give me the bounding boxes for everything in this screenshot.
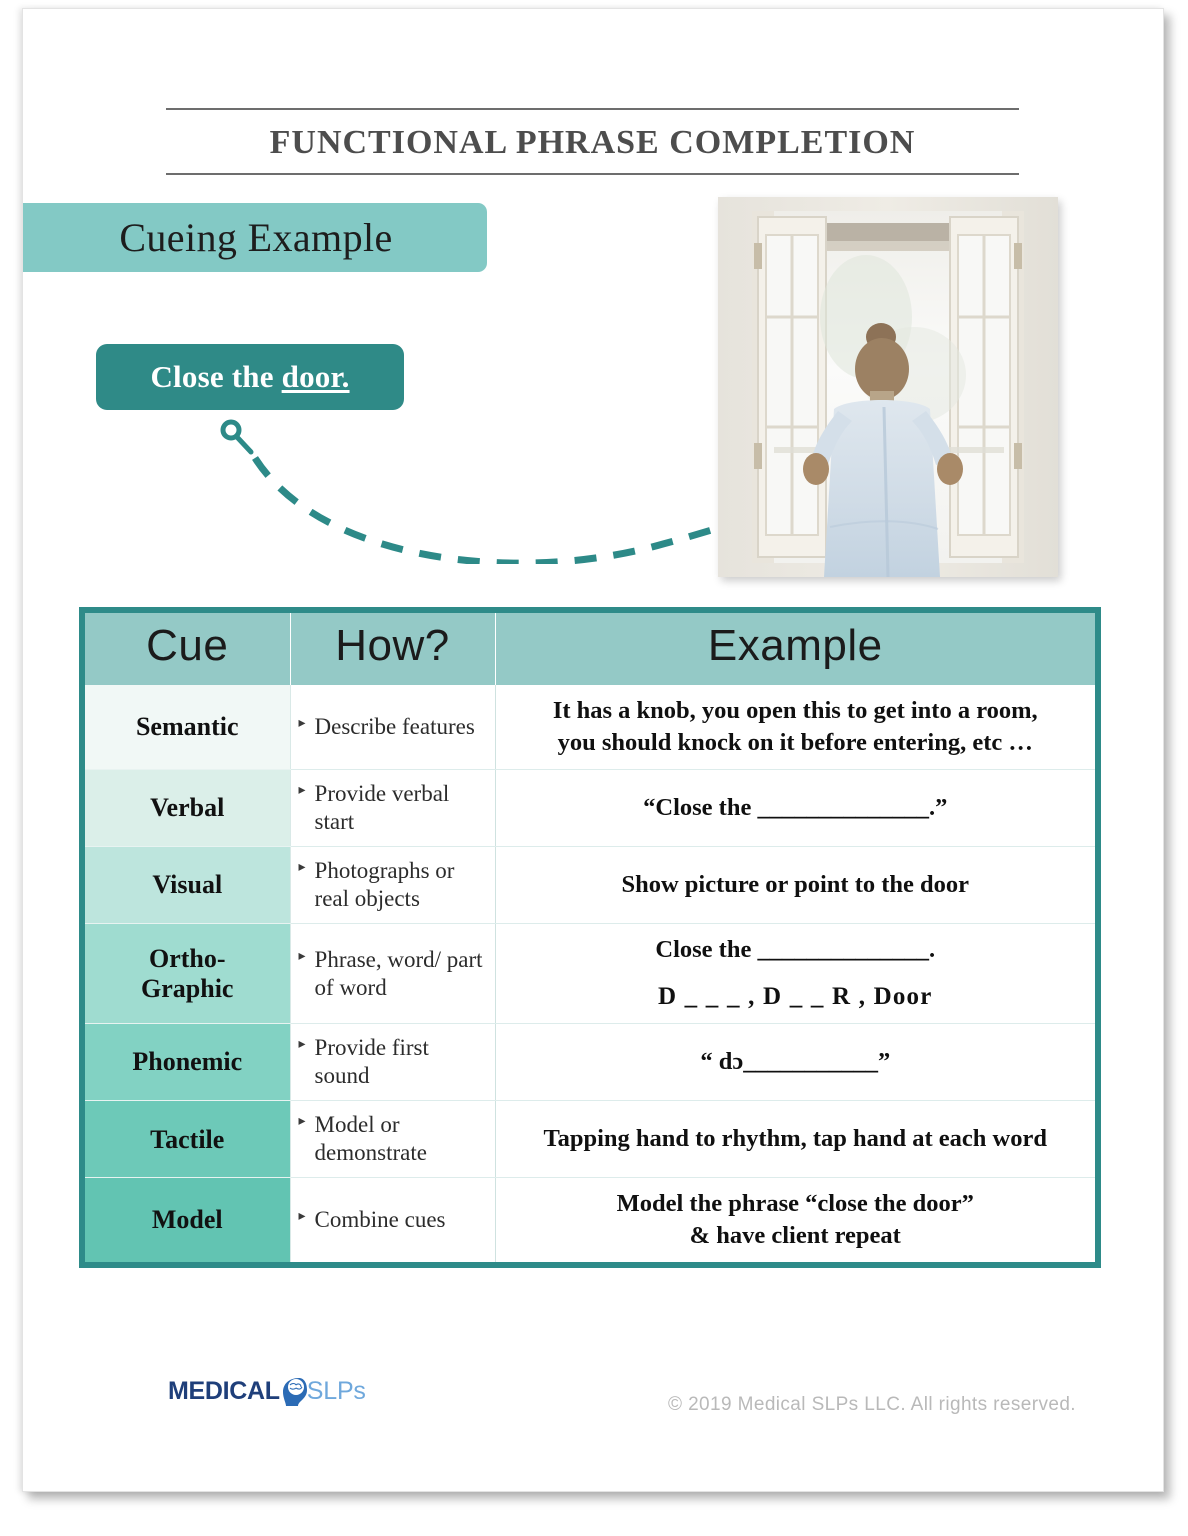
cue-example-line-1: “Close the ______________.” (510, 792, 1082, 824)
column-header-how: How? (290, 613, 495, 685)
page-title: FUNCTIONAL PHRASE COMPLETION (166, 110, 1019, 173)
cue-name-cell: Phonemic (85, 1024, 290, 1101)
bullet-icon: ▸ (299, 946, 306, 968)
table-row: Phonemic▸Provide first sound“ dɔ________… (85, 1024, 1095, 1101)
cue-example-cell: Tapping hand to rhythm, tap hand at each… (495, 1101, 1095, 1178)
cue-how-cell: ▸Model or demonstrate (290, 1101, 495, 1178)
cue-how-cell: ▸Describe features (290, 685, 495, 769)
cue-example-line-1: Show picture or point to the door (510, 869, 1082, 901)
bullet-icon: ▸ (299, 713, 306, 735)
cue-name-cell: Verbal (85, 769, 290, 846)
door-photo-illustration (718, 197, 1058, 577)
target-phrase-chip: Close the door. (96, 344, 404, 410)
cue-name-cell: Ortho-Graphic (85, 923, 290, 1023)
cue-example-cell: “Close the ______________.” (495, 769, 1095, 846)
table-row: Ortho-Graphic▸Phrase, word/ part of word… (85, 923, 1095, 1023)
cue-example-cell: It has a knob, you open this to get into… (495, 685, 1095, 769)
cue-how-text: Phrase, word/ part of word (315, 946, 487, 1002)
logo-word-slps: SLPs (307, 1379, 366, 1404)
cue-how-cell: ▸Combine cues (290, 1178, 495, 1262)
bullet-icon: ▸ (299, 857, 306, 879)
cue-how-cell: ▸Photographs or real objects (290, 846, 495, 923)
table-row: Tactile▸Model or demonstrateTapping hand… (85, 1101, 1095, 1178)
cue-how-cell: ▸Phrase, word/ part of word (290, 923, 495, 1023)
cue-how-text: Model or demonstrate (315, 1111, 487, 1167)
cue-how-text: Combine cues (315, 1206, 446, 1234)
table-row: Visual▸Photographs or real objectsShow p… (85, 846, 1095, 923)
cue-example-line-2: you should knock on it before entering, … (510, 727, 1082, 759)
brain-head-icon (277, 1374, 311, 1408)
cue-how-cell: ▸Provide first sound (290, 1024, 495, 1101)
cue-name-cell: Semantic (85, 685, 290, 769)
table-row: Verbal▸Provide verbal start“Close the __… (85, 769, 1095, 846)
title-block: FUNCTIONAL PHRASE COMPLETION (166, 108, 1019, 175)
column-header-cue: Cue (85, 613, 290, 685)
cue-name-cell: Visual (85, 846, 290, 923)
cue-example-line-2: D _ _ _ , D _ _ R , Door (510, 981, 1082, 1014)
column-header-example: Example (495, 613, 1095, 685)
cue-name-cell: Model (85, 1178, 290, 1262)
table-header-row: Cue How? Example (85, 613, 1095, 685)
target-phrase-word: door. (282, 359, 350, 394)
target-phrase-text: Close the door. (150, 359, 349, 395)
cue-example-line-1: Model the phrase “close the door” (510, 1188, 1082, 1220)
worksheet-page: FUNCTIONAL PHRASE COMPLETION Cueing Exam… (22, 8, 1164, 1492)
cue-example-cell: Show picture or point to the door (495, 846, 1095, 923)
medical-slps-logo: MEDICAL SLPs (168, 1371, 366, 1411)
cue-how-text: Describe features (315, 713, 475, 741)
cue-how-text: Photographs or real objects (315, 857, 487, 913)
cue-example-line-1: Close the ______________. (510, 934, 1082, 966)
cue-example-line-1: It has a knob, you open this to get into… (510, 695, 1082, 727)
cueing-example-banner: Cueing Example (22, 203, 487, 272)
logo-word-medical: MEDICAL (168, 1379, 280, 1404)
table-row: Model▸Combine cuesModel the phrase “clos… (85, 1178, 1095, 1262)
bullet-icon: ▸ (299, 1111, 306, 1133)
cue-example-cell: Model the phrase “close the door”& have … (495, 1178, 1095, 1262)
cue-name-cell: Tactile (85, 1101, 290, 1178)
cue-example-line-1: Tapping hand to rhythm, tap hand at each… (510, 1123, 1082, 1155)
cue-how-text: Provide verbal start (315, 780, 487, 836)
copyright-notice: © 2019 Medical SLPs LLC. All rights rese… (668, 1394, 1076, 1416)
cue-example-line-1: “ dɔ___________” (510, 1046, 1082, 1078)
bullet-icon: ▸ (299, 780, 306, 802)
cue-how-cell: ▸Provide verbal start (290, 769, 495, 846)
cue-how-text: Provide first sound (315, 1034, 487, 1090)
target-phrase-prefix: Close the (150, 359, 281, 394)
bullet-icon: ▸ (299, 1034, 306, 1056)
cueing-example-label: Cueing Example (99, 214, 392, 261)
cue-example-cell: Close the ______________.D _ _ _ , D _ _… (495, 923, 1095, 1023)
title-rule-bottom (166, 173, 1019, 175)
cue-example-cell: “ dɔ___________” (495, 1024, 1095, 1101)
cueing-strategies-table: Cue How? Example Semantic▸Describe featu… (79, 607, 1101, 1268)
table-row: Semantic▸Describe featuresIt has a knob,… (85, 685, 1095, 769)
door-photo (718, 197, 1058, 577)
bullet-icon: ▸ (299, 1206, 306, 1228)
cue-example-line-2: & have client repeat (510, 1220, 1082, 1252)
